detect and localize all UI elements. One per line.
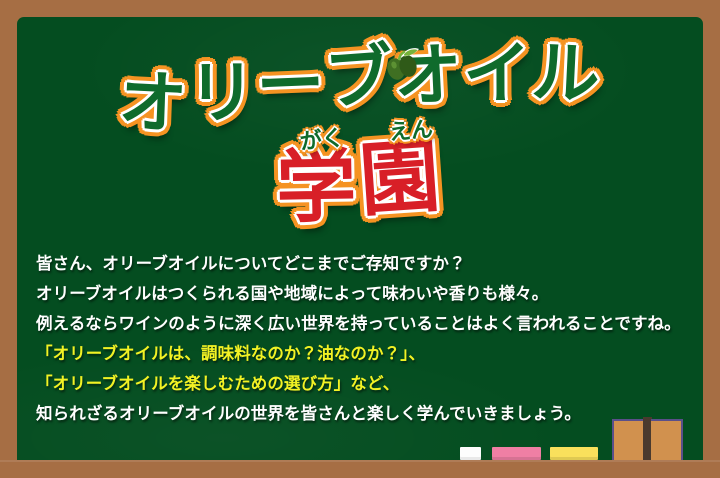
open-book-icon [612, 417, 683, 460]
logo-char: リ [188, 60, 257, 128]
logo-line-kanji: 学園 [274, 139, 446, 228]
logo-line-katakana: オリーブオイル [117, 33, 604, 136]
copy-line-highlight: 「オリーブオイルは、調味料なのか？油なのか？」、 [36, 339, 696, 369]
book-page-right [651, 419, 683, 462]
logo-char: ブ [323, 43, 397, 116]
white-chalk-icon [460, 447, 481, 460]
book-page-left [612, 419, 644, 462]
copy-line: 皆さん、オリーブオイルについてどこまでご存知ですか？ [36, 249, 696, 279]
logo-char: 園 [357, 136, 446, 222]
copy-line-highlight: 「オリーブオイルを楽しむための選び方」など、 [36, 369, 696, 399]
logo-char: オ [117, 69, 189, 140]
title-logo: オリーブオイル 学園 がく えん [17, 17, 703, 245]
intro-copy: 皆さん、オリーブオイルについてどこまでご存知ですか？ オリーブオイルはつくられる… [36, 249, 696, 429]
logo-char: イ [463, 41, 532, 109]
copy-line: 例えるならワインのように深く広い世界を持っていることはよく言われることですね。 [36, 309, 696, 339]
furigana-gaku: がく [299, 128, 345, 154]
olive-fruit-icon [379, 45, 425, 91]
copy-line: 知られざるオリーブオイルの世界を皆さんと楽しく学んでいきましょう。 [36, 399, 696, 429]
pink-chalk-icon [492, 447, 541, 460]
olive-oil-academy-banner: オリーブオイル 学園 がく えん 皆さん、オリーブオイルについてどこまでご存知で… [0, 0, 720, 478]
logo-char: ル [530, 39, 602, 110]
chalkboard: オリーブオイル 学園 がく えん 皆さん、オリーブオイルについてどこまでご存知で… [17, 17, 703, 460]
furigana-en: えん [388, 119, 434, 145]
yellow-chalk-icon [550, 447, 598, 460]
copy-line: オリーブオイルはつくられる国や地域によって味わいや香りも様々。 [36, 279, 696, 309]
logo-char: 学 [275, 146, 360, 227]
logo-char: ー [255, 51, 327, 122]
chalk-ledge [0, 460, 720, 478]
ledge-highlight [0, 460, 720, 462]
logo-char: オ [393, 42, 465, 113]
